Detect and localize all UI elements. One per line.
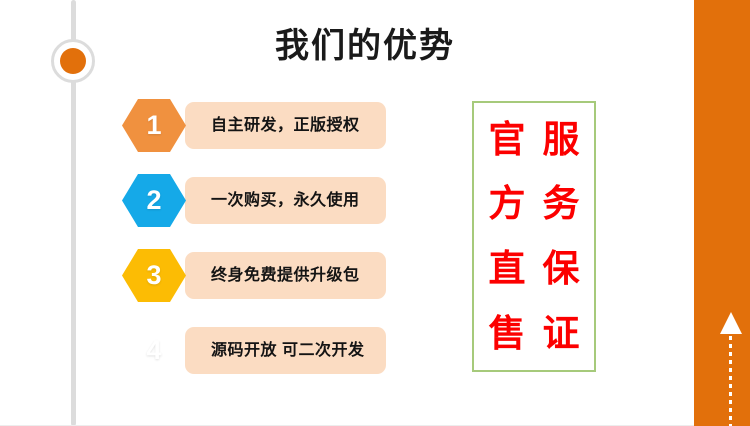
advantage-label-2: 一次购买，永久使用: [211, 177, 360, 224]
advantage-number-1: 1: [122, 99, 186, 152]
list-item[interactable]: 3 终身免费提供升级包: [122, 249, 386, 302]
slogan-char: 务: [543, 185, 580, 223]
timeline-marker-dot: [60, 48, 86, 74]
up-arrow-icon: [720, 312, 742, 334]
page-title: 我们的优势: [275, 24, 455, 68]
slogan-char: 证: [543, 315, 580, 353]
list-item[interactable]: 1 自主研发，正版授权: [122, 99, 386, 152]
advantage-label-1: 自主研发，正版授权: [211, 102, 360, 149]
slogan-char: 保: [543, 250, 580, 288]
slogan-char: 售: [489, 315, 526, 353]
slogan-column-right: 服 务 保 证: [543, 107, 580, 366]
list-item[interactable]: 2 一次购买，永久使用: [122, 174, 386, 227]
list-item[interactable]: 4 源码开放 可二次开发: [122, 324, 386, 377]
slogan-char: 服: [543, 121, 580, 159]
slogan-column-left: 官 方 直 售: [489, 107, 526, 366]
right-orange-band: [694, 0, 750, 426]
timeline-marker: [51, 39, 95, 83]
slogan-box: 官 方 直 售 服 务 保 证: [472, 101, 596, 372]
slogan-char: 直: [489, 250, 526, 288]
advantage-list: 1 自主研发，正版授权 2 一次购买，永久使用 3 终身免费提供升级包 4 源码…: [122, 99, 386, 399]
advantage-label-3: 终身免费提供升级包: [211, 252, 360, 299]
slogan-char: 官: [489, 121, 526, 159]
advantage-label-4: 源码开放 可二次开发: [211, 327, 364, 374]
slogan-char: 方: [489, 185, 526, 223]
dotted-line-decoration: [729, 336, 732, 426]
slide-canvas: 我们的优势 1 自主研发，正版授权 2 一次购买，永久使用 3 终身免费提供升级…: [0, 0, 750, 426]
advantage-number-4: 4: [122, 324, 186, 377]
advantage-number-2: 2: [122, 174, 186, 227]
advantage-number-3: 3: [122, 249, 186, 302]
